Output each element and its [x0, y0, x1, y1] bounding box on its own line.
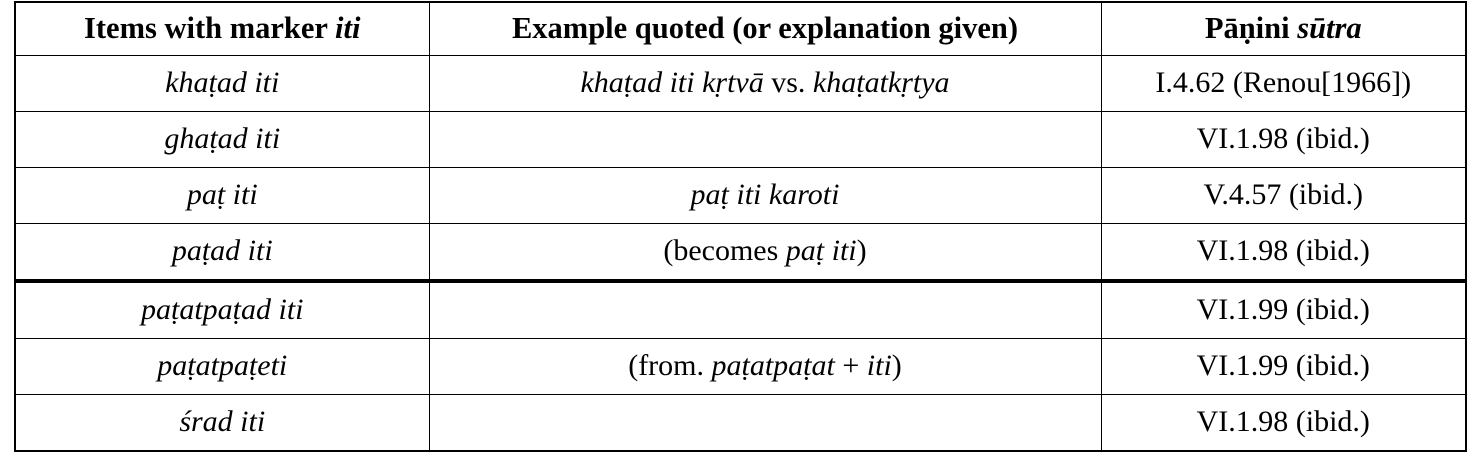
- table-body: khaṭad itikhaṭad iti kṛtvā vs. khaṭatkṛt…: [15, 56, 1466, 452]
- cell-example: paṭ iti karoti: [429, 168, 1101, 224]
- iti-marker-table: Items with marker iti Example quoted (or…: [14, 1, 1467, 452]
- cell-sutra: VI.1.99 (ibid.): [1101, 281, 1466, 339]
- cell-example: khaṭad iti kṛtvā vs. khaṭatkṛtya: [429, 56, 1101, 112]
- cell-item: paṭad iti: [15, 224, 429, 282]
- table-row: khaṭad itikhaṭad iti kṛtvā vs. khaṭatkṛt…: [15, 56, 1466, 112]
- example-fragment: khaṭad iti kṛtvā: [580, 66, 771, 99]
- cell-item: ghaṭad iti: [15, 112, 429, 168]
- column-header-example: Example quoted (or explanation given): [429, 2, 1101, 56]
- column-header-item: Items with marker iti: [15, 2, 429, 56]
- example-fragment: ): [892, 349, 902, 382]
- column-header-item-italic: iti: [335, 11, 360, 45]
- column-header-sutra: Pāṇini sūtra: [1101, 2, 1466, 56]
- cell-item: paṭatpaṭad iti: [15, 281, 429, 339]
- cell-item: paṭ iti: [15, 168, 429, 224]
- example-fragment: khaṭatkṛtya: [805, 66, 949, 99]
- cell-example: (becomes paṭ iti): [429, 224, 1101, 282]
- table-row: paṭ itipaṭ iti karotiV.4.57 (ibid.): [15, 168, 1466, 224]
- table-row: śrad itiVI.1.98 (ibid.): [15, 395, 1466, 452]
- example-fragment: (becomes: [663, 234, 785, 267]
- cell-sutra: VI.1.99 (ibid.): [1101, 339, 1466, 395]
- cell-sutra: VI.1.98 (ibid.): [1101, 112, 1466, 168]
- header-row: Items with marker iti Example quoted (or…: [15, 2, 1466, 56]
- table-row: paṭatpaṭeti(from. paṭatpaṭat + iti)VI.1.…: [15, 339, 1466, 395]
- example-fragment: ): [857, 234, 867, 267]
- cell-item: paṭatpaṭeti: [15, 339, 429, 395]
- table-row: paṭatpaṭad itiVI.1.99 (ibid.): [15, 281, 1466, 339]
- table-row: ghaṭad itiVI.1.98 (ibid.): [15, 112, 1466, 168]
- cell-example: (from. paṭatpaṭat + iti): [429, 339, 1101, 395]
- cell-example-empty: [429, 395, 1101, 452]
- column-header-example-roman: Example quoted (or explanation given): [512, 11, 1018, 45]
- table-header: Items with marker iti Example quoted (or…: [15, 2, 1466, 56]
- column-header-sutra-roman: Pāṇini: [1205, 11, 1297, 45]
- cell-item: śrad iti: [15, 395, 429, 452]
- cell-example-empty: [429, 112, 1101, 168]
- cell-sutra: VI.1.98 (ibid.): [1101, 224, 1466, 282]
- cell-sutra: I.4.62 (Renou[1966]): [1101, 56, 1466, 112]
- cell-sutra: V.4.57 (ibid.): [1101, 168, 1466, 224]
- table-row: paṭad iti(becomes paṭ iti)VI.1.98 (ibid.…: [15, 224, 1466, 282]
- example-fragment: +: [835, 349, 867, 382]
- cell-item: khaṭad iti: [15, 56, 429, 112]
- column-header-sutra-italic: sūtra: [1297, 11, 1361, 45]
- cell-example-empty: [429, 281, 1101, 339]
- example-fragment: (from.: [628, 349, 711, 382]
- example-fragment: iti: [867, 349, 892, 382]
- cell-sutra: VI.1.98 (ibid.): [1101, 395, 1466, 452]
- example-fragment: paṭ iti: [786, 234, 857, 267]
- example-fragment: vs.: [771, 66, 805, 99]
- example-fragment: paṭatpaṭat: [712, 349, 835, 382]
- table-container: Items with marker iti Example quoted (or…: [14, 1, 1465, 435]
- example-fragment: paṭ iti karoti: [691, 178, 840, 211]
- column-header-item-roman: Items with marker: [84, 11, 335, 45]
